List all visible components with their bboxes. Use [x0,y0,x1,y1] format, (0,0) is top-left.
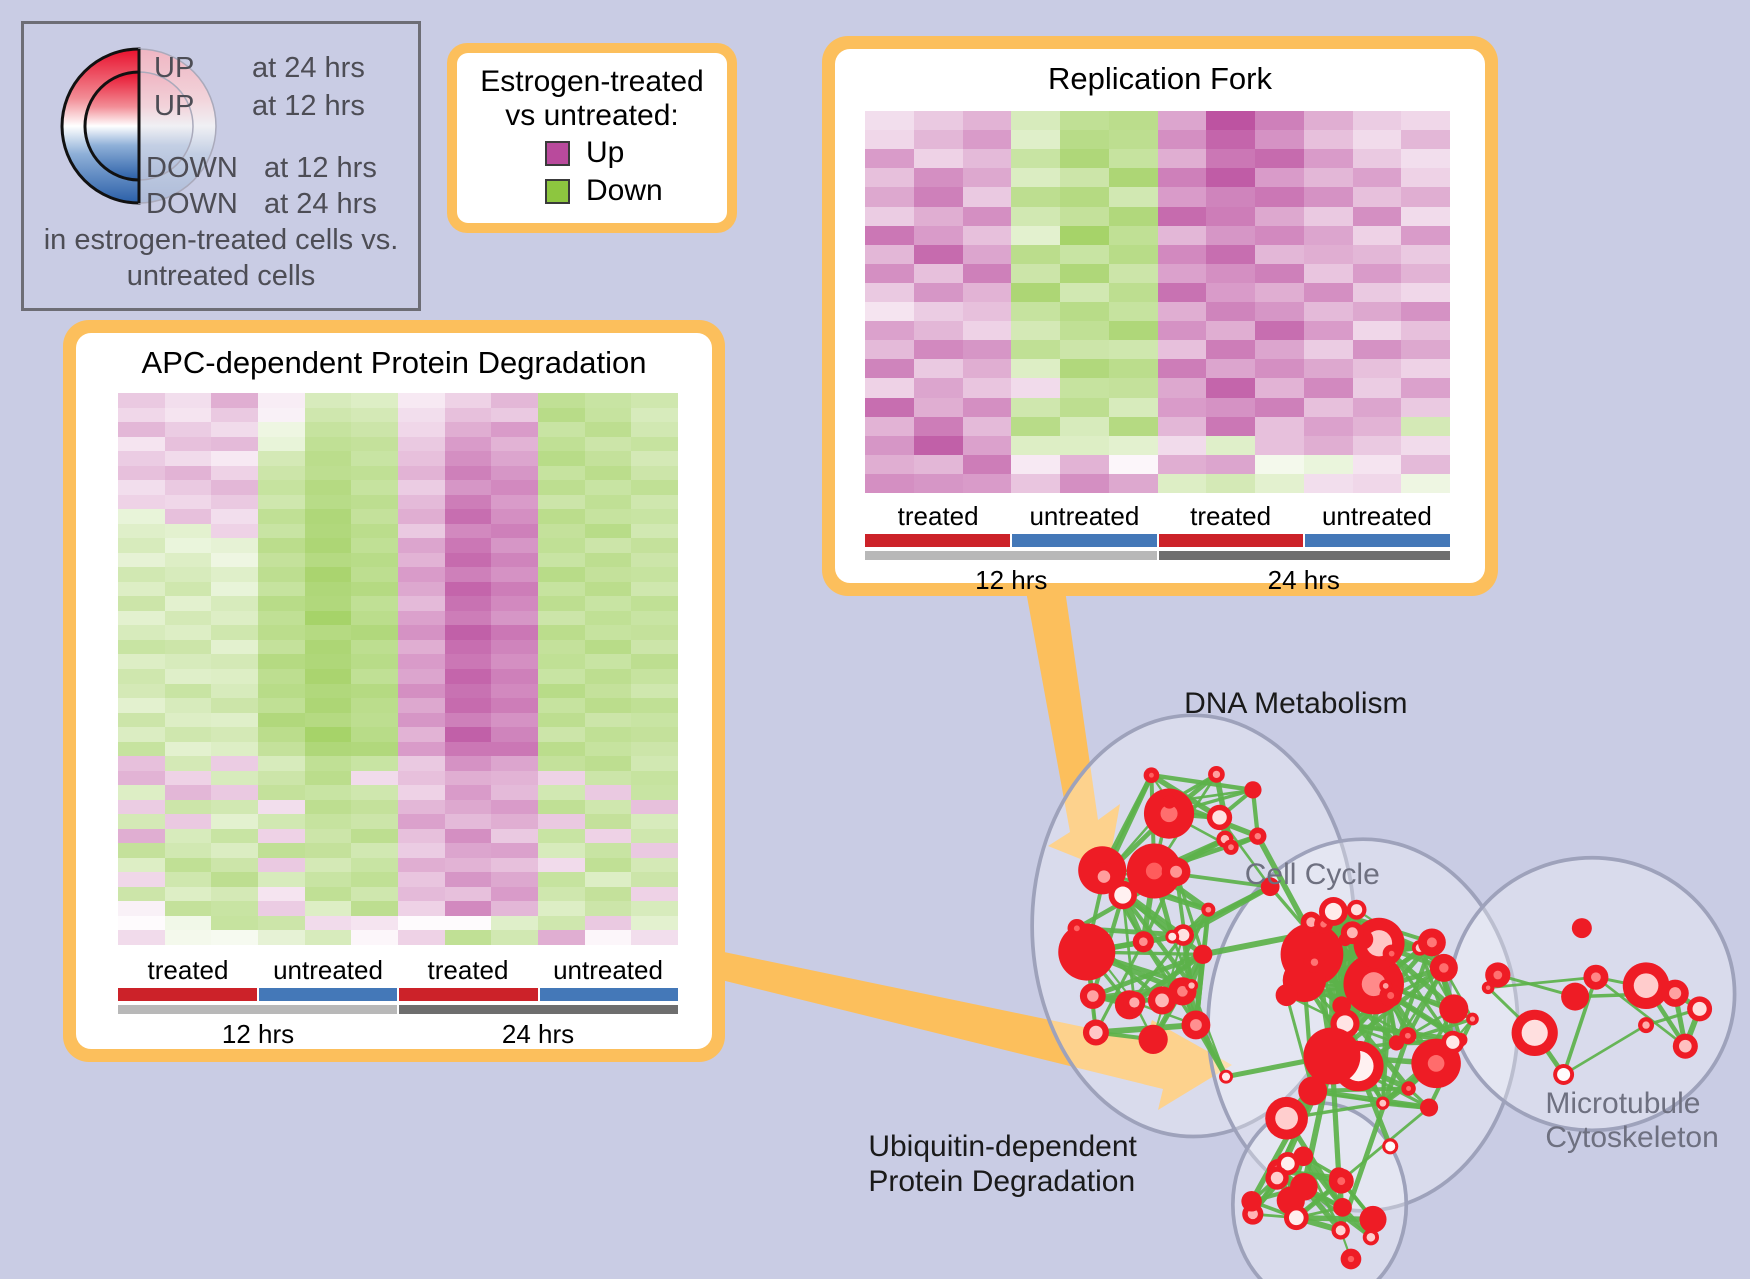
heatmap-cell [351,771,398,786]
heatmap-cell [305,684,352,699]
heatmap-cell [305,553,352,568]
heatmap-cell [491,669,538,684]
heatmap-cell [865,226,914,245]
heatmap-cell [351,858,398,873]
network-node [1333,1198,1352,1217]
heatmap-cell [631,930,678,945]
heatmap-cell [1401,149,1450,168]
panel-apc-dependent-protein-degradation: APC-dependent Protein Degradation treate… [63,320,725,1062]
heatmap-cell [1401,417,1450,436]
heatmap-cell [351,408,398,423]
heatmap-cell [1304,264,1353,283]
heatmap-cell [1011,149,1060,168]
heatmap-cell [1401,245,1450,264]
heatmap-cell [538,669,585,684]
heatmap-cell [118,451,165,466]
legend-item-down: Down [545,174,717,208]
heatmap-cell [305,466,352,481]
heatmap-cell [491,872,538,887]
heatmap-cell [118,858,165,873]
heatmap-cell [445,930,492,945]
heatmap-cell [631,872,678,887]
heatmap-cell [631,393,678,408]
heatmap-cell [165,466,212,481]
heatmap-cell [1011,187,1060,206]
heatmap-cell [1353,149,1402,168]
heatmap-cell [1060,149,1109,168]
heatmap-cell [1158,474,1207,493]
heatmap-cell [1011,436,1060,455]
heatmap-cell [305,495,352,510]
heatmap-cell [305,756,352,771]
condition-bar-segment [118,988,259,1001]
heatmap-cell [1158,207,1207,226]
heatmap-cell [351,916,398,931]
heatmap-cell [1158,149,1207,168]
heatmap-cell [914,359,963,378]
heatmap-cell [211,742,258,757]
heatmap-cell [351,567,398,582]
network-node-core [1693,1002,1707,1016]
network-node [1420,1099,1438,1117]
heatmap-cell [351,742,398,757]
heatmap-cell [1060,207,1109,226]
heatmap-cell [1109,264,1158,283]
network-node-core [1367,1233,1376,1242]
heatmap-cell [1206,207,1255,226]
heatmap-cell [118,901,165,916]
heatmap-cell [538,785,585,800]
heatmap-cell [305,393,352,408]
heatmap-cell [165,843,212,858]
heatmap-cell [1353,283,1402,302]
heatmap-cell [538,393,585,408]
heatmap-cell [398,625,445,640]
network-node-core [1470,1016,1475,1021]
heatmap-cell [1060,359,1109,378]
heatmap-cell [1011,302,1060,321]
heatmap-cell [585,393,632,408]
heatmap-cell [305,930,352,945]
heatmap-cell [914,245,963,264]
heatmap-cell [305,422,352,437]
heatmap-cell [914,340,963,359]
heatmap-cell [491,742,538,757]
heatmap-cell [585,742,632,757]
heatmap-cell [491,829,538,844]
heatmap-cell [631,887,678,902]
heatmap-cell [305,611,352,626]
heatmap-cell [914,455,963,474]
key-legend-footer: in estrogen-treated cells vs. untreated … [24,222,418,295]
heatmap-cell [258,437,305,452]
heatmap-cell [1353,398,1402,417]
heatmap-cell [1353,321,1402,340]
heatmap-cell [865,187,914,206]
heatmap-cell [963,168,1012,187]
heatmap-cell [211,509,258,524]
heatmap-cell [211,756,258,771]
heatmap-cell [585,872,632,887]
heatmap-cell [258,916,305,931]
cluster-label-dna-metabolism: DNA Metabolism [1184,687,1407,721]
heatmap-cell [491,625,538,640]
heatmap-cell [585,495,632,510]
network-node-core [1379,1100,1386,1107]
heatmap-cell [398,771,445,786]
heatmap-cell [963,436,1012,455]
heatmap-cell [445,451,492,466]
heatmap-cell [398,756,445,771]
heatmap-cell [351,451,398,466]
heatmap-cell [1206,321,1255,340]
heatmap-cell [585,669,632,684]
network-node-core [1522,1020,1548,1046]
heatmap-cell [305,451,352,466]
heatmap-cell [305,582,352,597]
heatmap-cell [865,436,914,455]
network-node-core [1428,1055,1445,1072]
heatmap-cell [914,417,963,436]
timepoint-bar-apc [118,1003,678,1016]
timepoint-bar-segment [399,1005,678,1014]
heatmap-cell [491,698,538,713]
heatmap-cell [445,654,492,669]
heatmap-cell [445,538,492,553]
heatmap-cell [1353,130,1402,149]
heatmap-cell [165,596,212,611]
heatmap-cell [631,916,678,931]
heatmap-cell [1304,149,1353,168]
heatmap-cell [118,669,165,684]
heatmap-cell [1206,398,1255,417]
heatmap-cell [445,858,492,873]
heatmap-cell [445,509,492,524]
heatmap-cell [1255,245,1304,264]
heatmap-cell [351,422,398,437]
cluster-label-ubiquitin: Ubiquitin-dependent Protein Degradation [868,1130,1137,1199]
network-node-core [1446,1036,1459,1049]
heatmap-cell [305,872,352,887]
heatmap-cell [165,408,212,423]
network-node-core [1383,983,1389,989]
heatmap-cell [585,930,632,945]
heatmap-cell [914,130,963,149]
heatmap-cell [914,398,963,417]
panel-title-replication-fork: Replication Fork [835,61,1485,97]
condition-label: untreated [1011,501,1157,532]
network-node-core [1634,973,1659,998]
heatmap-cell [398,611,445,626]
down-label: Down [586,174,663,208]
heatmap-cell [865,130,914,149]
heatmap-cell [211,611,258,626]
heatmap-cell [398,393,445,408]
heatmap-cell [1060,398,1109,417]
heatmap-cell [258,553,305,568]
condition-bar-apc [118,988,678,1001]
heatmap-cell [491,611,538,626]
heatmap-cell [165,872,212,887]
heatmap-cell [351,698,398,713]
heatmap-cell [631,640,678,655]
heatmap-cell [1255,149,1304,168]
heatmap-cell [1255,436,1304,455]
heatmap-cell [398,872,445,887]
heatmap-cell [1060,340,1109,359]
heatmap-cell [1304,321,1353,340]
heatmap-cell [258,480,305,495]
heatmap-cell [963,417,1012,436]
heatmap-cell [351,466,398,481]
heatmap-cell [585,756,632,771]
heatmap-cell [445,800,492,815]
heatmap-cell [1206,130,1255,149]
heatmap-cell [1353,436,1402,455]
heatmap-cell [118,393,165,408]
heatmap-cell [491,901,538,916]
heatmap-cell [1255,455,1304,474]
heatmap-cell [538,742,585,757]
heatmap-cell [1158,340,1207,359]
heatmap-cell [1353,187,1402,206]
network-node-core [1669,987,1681,999]
heatmap-cell [491,524,538,539]
heatmap-cell [165,625,212,640]
network-node-core [1155,994,1169,1008]
heatmap-cell [585,698,632,713]
heatmap-cell [258,524,305,539]
heatmap-cell [491,654,538,669]
heatmap-cell [1206,455,1255,474]
network-node-core [1385,1141,1395,1151]
heatmap-cell [445,422,492,437]
heatmap-cell [118,582,165,597]
heatmap-cell [1158,168,1207,187]
heatmap-cell [631,742,678,757]
heatmap-cell [1401,302,1450,321]
network-node-core [1389,951,1395,957]
timepoint-labels-replication-fork: 12 hrs24 hrs [865,565,1450,596]
network-node-core [1351,904,1362,915]
heatmap-cell [914,378,963,397]
network-node [1290,1173,1318,1201]
heatmap-cell [118,930,165,945]
heatmap-cell [165,422,212,437]
heatmap-cell [1304,417,1353,436]
heatmap-cell [118,480,165,495]
heatmap-cell [211,901,258,916]
heatmap-cell [538,509,585,524]
network-node-core [1205,907,1211,913]
heatmap-cell [585,916,632,931]
heatmap-cell [165,451,212,466]
heatmap-cell [491,422,538,437]
condition-labels-replication-fork: treateduntreatedtreateduntreated [865,501,1450,532]
heatmap-cell [1401,455,1450,474]
heatmap-cell [1060,187,1109,206]
network-node-core [1213,771,1220,778]
heatmap-cell [258,422,305,437]
key-row-0-label: UP [154,52,194,85]
network-node [1163,795,1177,809]
network-node-core [1427,937,1437,947]
heatmap-cell [538,858,585,873]
heatmap-cell [351,596,398,611]
heatmap-cell [585,814,632,829]
heatmap-cell [398,538,445,553]
heatmap-cell [305,858,352,873]
heatmap-cell [1158,283,1207,302]
network-node-core [1406,1086,1411,1091]
network-node-core [1439,963,1448,972]
heatmap-cell [491,582,538,597]
heatmap-cell [865,340,914,359]
heatmap-cell [1011,245,1060,264]
heatmap-cell [211,422,258,437]
heatmap-cell [1158,130,1207,149]
heatmap-cell [398,451,445,466]
heatmap-cell [305,771,352,786]
heatmap-cell [585,800,632,815]
heatmap-cell [165,524,212,539]
legend-item-up: Up [545,136,717,170]
heatmap-cell [585,684,632,699]
heatmap-cell [865,455,914,474]
heatmap-cell [398,567,445,582]
heatmap-cell [585,654,632,669]
heatmap-cell [258,843,305,858]
heatmap-cell [445,785,492,800]
heatmap-cell [351,582,398,597]
heatmap-cell [491,800,538,815]
heatmap-cell [118,509,165,524]
heatmap-cell [445,393,492,408]
heatmap-cell [1060,417,1109,436]
heatmap-cell [1109,302,1158,321]
heatmap-cell [305,596,352,611]
heatmap-cell [398,480,445,495]
heatmap-cell [1255,378,1304,397]
heatmap-cell [1401,436,1450,455]
heatmap-cell [585,567,632,582]
condition-label: untreated [538,955,678,986]
heatmap-cell [585,437,632,452]
heatmap-cell [538,698,585,713]
heatmap-cell [1304,302,1353,321]
heatmap-cell [118,727,165,742]
heatmap-cell [118,771,165,786]
network-node [1138,1025,1167,1054]
heatmap-cell [1158,321,1207,340]
heatmap-cell [1304,187,1353,206]
heatmap-cell [1158,455,1207,474]
heatmap-cell [538,408,585,423]
heatmap-cell [1353,226,1402,245]
heatmap-cell [305,785,352,800]
heatmap-cell [258,698,305,713]
heatmap-cell [211,829,258,844]
heatmap-cell [258,640,305,655]
heatmap-cell [585,451,632,466]
heatmap-cell [1011,474,1060,493]
heatmap-cell [963,321,1012,340]
heatmap-cell [491,509,538,524]
heatmap-cell [491,843,538,858]
heatmap-cell [351,872,398,887]
heatmap-cell [585,785,632,800]
key-row-3-label: DOWN [146,188,238,221]
heatmap-cell [1304,398,1353,417]
network-node-core [1255,833,1261,839]
heatmap-cell [963,226,1012,245]
heatmap-cell [165,582,212,597]
heatmap-cell [1304,436,1353,455]
heatmap-cell [914,283,963,302]
heatmap-cell [211,887,258,902]
heatmap-cell [398,698,445,713]
heatmap-cell [351,684,398,699]
heatmap-cell [258,771,305,786]
condition-bar-replication-fork [865,534,1450,547]
heatmap-cell [1255,398,1304,417]
heatmap-cell [165,742,212,757]
condition-bar-segment [1012,534,1159,547]
heatmap-cell [865,378,914,397]
network-node-core [1190,1019,1202,1031]
heatmap-cell [258,785,305,800]
heatmap-cell [258,872,305,887]
heatmap-cell [1060,436,1109,455]
heatmap-cell [1109,245,1158,264]
heatmap-cell [305,713,352,728]
network-node-core [1591,972,1601,982]
heatmap-cell [1353,264,1402,283]
heatmap-cell [914,264,963,283]
up-label: Up [586,136,624,170]
heatmap-cell [631,538,678,553]
heatmap-cell [165,567,212,582]
heatmap-cell [914,302,963,321]
heatmap-cell [963,359,1012,378]
heatmap-cell [165,756,212,771]
heatmap-cell [963,130,1012,149]
heatmap-cell [585,727,632,742]
heatmap-cell [118,785,165,800]
heatmap-cell [1109,398,1158,417]
heatmap-cell [445,713,492,728]
heatmap-cell [1109,207,1158,226]
heatmap-cell [491,567,538,582]
heatmap-cell [258,930,305,945]
heatmap-cell [1206,359,1255,378]
heatmap-cell [1353,455,1402,474]
heatmap-cell [491,495,538,510]
heatmap-cell [631,524,678,539]
heatmap-cell [491,466,538,481]
heatmap-cell [165,698,212,713]
heatmap-cell [1109,359,1158,378]
heatmap-cell [1255,264,1304,283]
heatmap-cell [1206,436,1255,455]
heatmap-cell [118,872,165,887]
heatmap-cell [631,713,678,728]
network-node-core [1087,990,1099,1002]
heatmap-cell [1255,207,1304,226]
network-node-core [1493,971,1502,980]
heatmap-cell [351,901,398,916]
heatmap-cell [1401,168,1450,187]
